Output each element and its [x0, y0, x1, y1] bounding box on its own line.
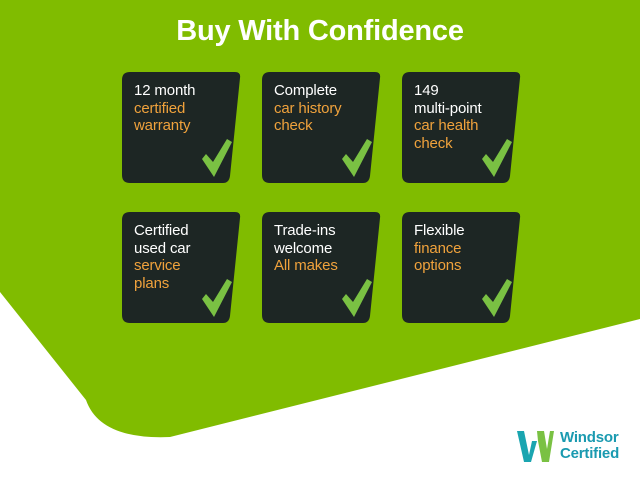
- card-line-orange-0: certified: [134, 100, 238, 118]
- card-line-orange-0: car history: [274, 100, 378, 118]
- benefit-card-trade-ins[interactable]: Trade-ins welcome All makes: [262, 212, 382, 323]
- check-icon: [200, 137, 234, 179]
- card-line-orange-0: service: [134, 257, 238, 275]
- benefit-card-service-plans[interactable]: Certified used car service plans: [122, 212, 242, 323]
- benefit-card-text: Complete car history check: [274, 82, 378, 135]
- benefit-card-history-check[interactable]: Complete car history check: [262, 72, 382, 183]
- card-line-orange-1: warranty: [134, 117, 238, 135]
- card-line-white-0: Complete: [274, 82, 378, 100]
- benefit-card-health-check[interactable]: 149 multi-point car health check: [402, 72, 522, 183]
- windsor-certified-logo[interactable]: Windsor Certified: [516, 424, 628, 468]
- windsor-w-mark-icon: [516, 429, 554, 463]
- card-line-white-1: used car: [134, 240, 238, 258]
- card-line-white-0: Trade-ins: [274, 222, 378, 240]
- benefit-card-text: 12 month certified warranty: [134, 82, 238, 135]
- check-icon: [480, 277, 514, 319]
- card-line-orange-1: options: [414, 257, 518, 275]
- poster-canvas: Buy With Confidence 12 month certified w…: [0, 0, 640, 480]
- benefit-card-grid: 12 month certified warranty Complete car…: [122, 72, 534, 324]
- card-line-white-0: 12 month: [134, 82, 238, 100]
- card-line-orange-1: check: [274, 117, 378, 135]
- benefit-card-warranty[interactable]: 12 month certified warranty: [122, 72, 242, 183]
- card-line-orange-0: car health: [414, 117, 518, 135]
- check-icon: [340, 277, 374, 319]
- card-line-white-1: multi-point: [414, 100, 518, 118]
- card-line-white-0: Flexible: [414, 222, 518, 240]
- benefit-card-text: Trade-ins welcome All makes: [274, 222, 378, 275]
- benefit-card-text: Flexible finance options: [414, 222, 518, 275]
- page-title: Buy With Confidence: [0, 14, 640, 48]
- check-icon: [340, 137, 374, 179]
- card-line-white-1: welcome: [274, 240, 378, 258]
- card-line-orange-0: All makes: [274, 257, 378, 275]
- check-icon: [480, 137, 514, 179]
- card-line-white-0: 149: [414, 82, 518, 100]
- logo-wordmark: Windsor Certified: [560, 430, 619, 463]
- benefit-card-finance[interactable]: Flexible finance options: [402, 212, 522, 323]
- check-icon: [200, 277, 234, 319]
- card-line-white-0: Certified: [134, 222, 238, 240]
- logo-line-1: Windsor: [560, 430, 619, 447]
- logo-line-2: Certified: [560, 446, 619, 463]
- card-line-orange-0: finance: [414, 240, 518, 258]
